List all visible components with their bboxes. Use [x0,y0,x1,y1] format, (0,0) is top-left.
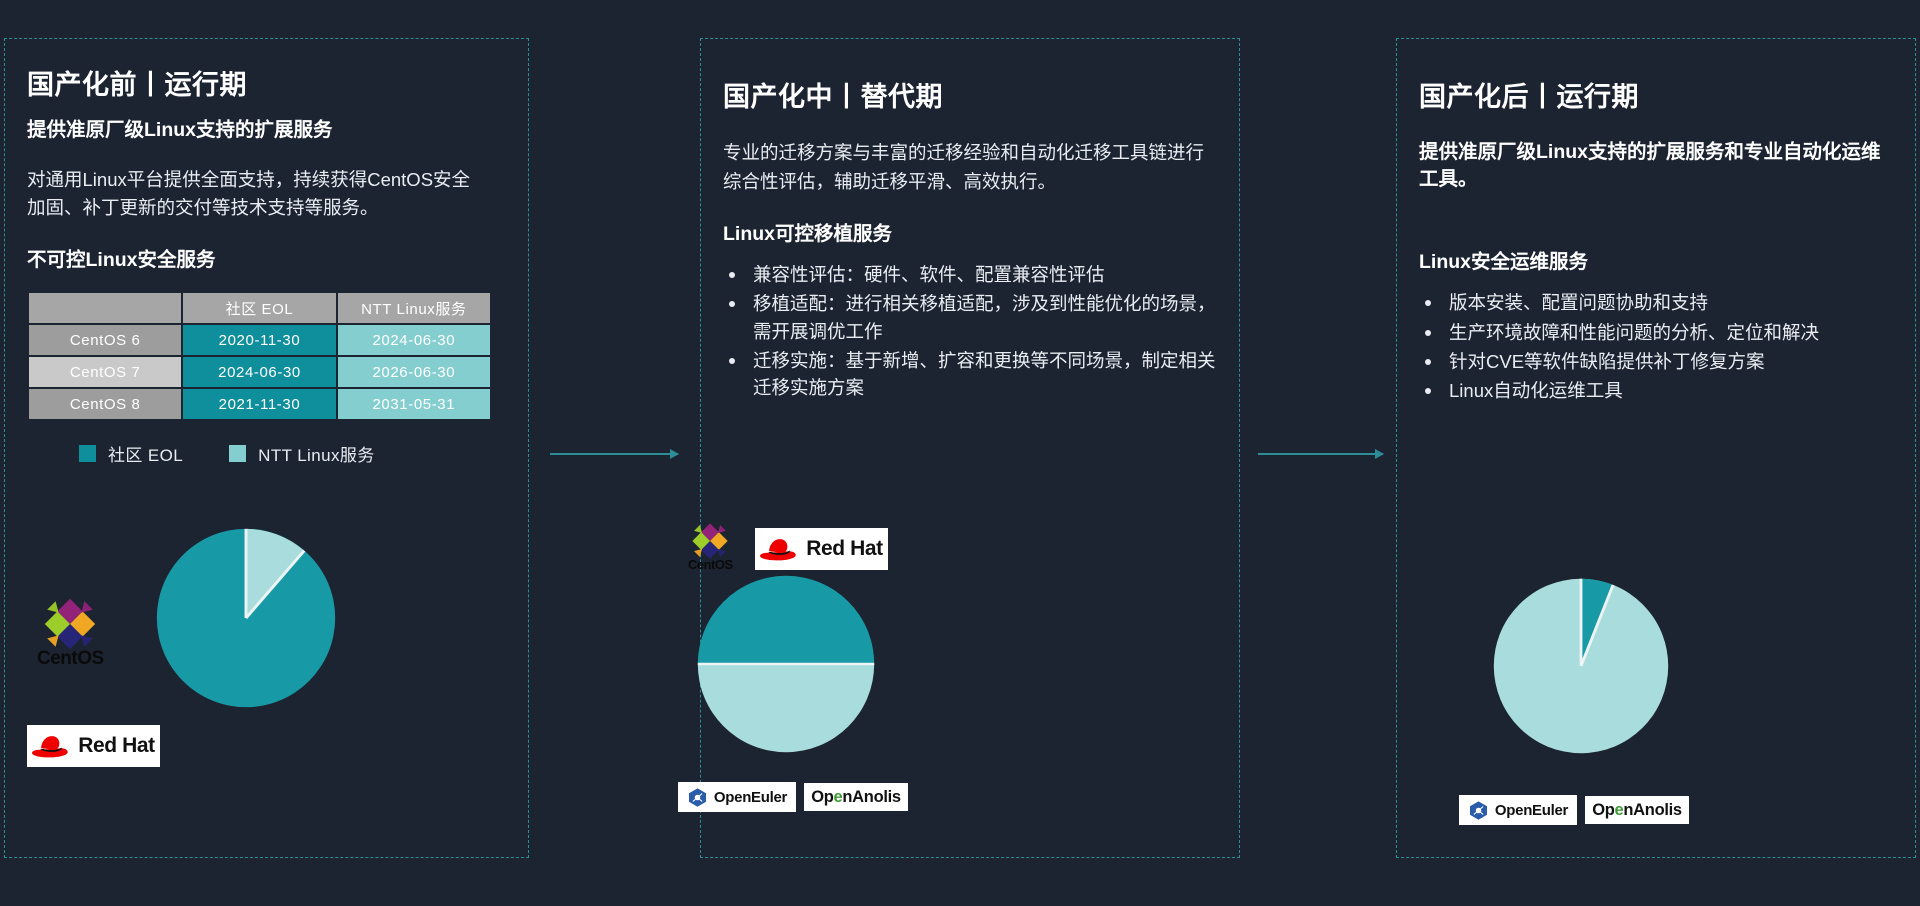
redhat-logo: Red Hat [755,528,888,570]
openanolis-logo-label: OpenAnolis [1592,801,1682,820]
list-item: 版本安装、配置问题协助和支持 [1419,289,1897,316]
table-cell-eol: 2020-11-30 [183,325,335,355]
slide-canvas: 国产化前丨运行期 提供准原厂级Linux支持的扩展服务 对通用Linux平台提供… [0,0,1920,906]
centos-logo: CentOS [688,520,733,572]
table-cell-os: CentOS 6 [29,325,181,355]
table-cell-ntt: 2026-06-30 [338,357,490,387]
table-header-row: 社区 EOL NTT Linux服务 [29,293,490,323]
openanolis-logo: OpenAnolis [804,783,908,811]
table-cell-eol: 2021-11-30 [183,389,335,419]
panel-after: 国产化后丨运行期 提供准原厂级Linux支持的扩展服务和专业自动化运维工具。 L… [1396,38,1916,858]
panel-before-body: 对通用Linux平台提供全面支持，持续获得CentOS安全加固、补丁更新的交付等… [27,166,485,222]
panel-before: 国产化前丨运行期 提供准原厂级Linux支持的扩展服务 对通用Linux平台提供… [4,38,529,858]
table-header-blank [29,293,181,323]
panel-after-title: 国产化后丨运行期 [1419,81,1891,113]
panel-before-subtitle: 提供准原厂级Linux支持的扩展服务 [27,117,504,143]
panel-during-section-heading: Linux可控移植服务 [723,222,1215,247]
list-item: 迁移实施：基于新增、扩容和更换等不同场景，制定相关迁移实施方案 [723,347,1221,402]
panel-during: 国产化中丨替代期 专业的迁移方案与丰富的迁移经验和自动化迁移工具链进行综合性评估… [700,38,1240,858]
list-item: 生产环境故障和性能问题的分析、定位和解决 [1419,319,1897,346]
legend-label: NTT Linux服务 [258,441,375,466]
table-cell-os: CentOS 7 [29,357,181,387]
list-item: 针对CVE等软件缺陷提供补丁修复方案 [1419,348,1897,375]
table-row: CentOS 7 2024-06-30 2026-06-30 [29,357,490,387]
centos-logo-label: CentOS [37,648,104,670]
panel-during-bullets: 兼容性评估：硬件、软件、配置兼容性评估 移植适配：进行相关移植适配，涉及到性能优… [723,261,1221,402]
openeuler-mark-icon [1468,800,1489,821]
redhat-fedora-icon [760,536,798,562]
pie-chart-before [155,527,337,714]
centos-mark-icon [40,594,100,654]
table-row: CentOS 6 2020-11-30 2024-06-30 [29,325,490,355]
openeuler-mark-icon [687,787,708,808]
openeuler-logo-label: OpenEuler [1495,802,1568,819]
arrow-during-to-after [1258,453,1383,455]
centos-logo: CentOS [37,594,104,670]
table-cell-ntt: 2024-06-30 [338,325,490,355]
table-header-ntt: NTT Linux服务 [338,293,490,323]
pie-after-svg [1492,577,1670,755]
legend-swatch-icon [229,445,246,462]
openeuler-logo-label: OpenEuler [714,789,787,806]
legend-label: 社区 EOL [108,441,183,466]
panel-during-body: 专业的迁移方案与丰富的迁移经验和自动化迁移工具链进行综合性评估，辅助迁移平滑、高… [723,139,1215,195]
table-cell-eol: 2024-06-30 [183,357,335,387]
table-row: CentOS 8 2021-11-30 2031-05-31 [29,389,490,419]
list-item: 兼容性评估：硬件、软件、配置兼容性评估 [723,261,1221,288]
panel-before-section-heading: 不可控Linux安全服务 [27,248,504,273]
table-cell-ntt: 2031-05-31 [338,389,490,419]
pie-chart-after [1492,577,1670,760]
arrow-before-to-during [550,453,678,455]
openeuler-logo: OpenEuler [1459,795,1577,825]
eol-table: 社区 EOL NTT Linux服务 CentOS 6 2020-11-30 2… [27,291,492,421]
list-item: Linux自动化运维工具 [1419,377,1897,404]
pie-chart-during [696,574,876,759]
panel-after-bullets: 版本安装、配置问题协助和支持 生产环境故障和性能问题的分析、定位和解决 针对CV… [1419,289,1897,405]
panel-after-subtitle: 提供准原厂级Linux支持的扩展服务和专业自动化运维工具。 [1419,139,1881,192]
panel-after-section-heading: Linux安全运维服务 [1419,250,1891,275]
openanolis-logo-label: OpenAnolis [811,788,901,807]
centos-logo-label: CentOS [688,557,733,572]
pie-during-svg [696,574,876,754]
legend-swatch-icon [79,445,96,462]
legend-item-ntt: NTT Linux服务 [229,441,375,466]
chart-legend: 社区 EOL NTT Linux服务 [27,441,504,466]
redhat-fedora-icon [32,733,70,759]
legend-item-eol: 社区 EOL [79,441,183,466]
table-cell-os: CentOS 8 [29,389,181,419]
table-header-eol: 社区 EOL [183,293,335,323]
centos-mark-icon [689,520,731,562]
panel-during-title: 国产化中丨替代期 [723,81,1215,113]
redhat-logo-label: Red Hat [78,734,155,758]
pie-before-svg [155,527,337,709]
panel-before-title: 国产化前丨运行期 [27,69,504,101]
openeuler-logo: OpenEuler [678,782,796,812]
openanolis-logo: OpenAnolis [1585,796,1689,824]
list-item: 移植适配：进行相关移植适配，涉及到性能优化的场景，需开展调优工作 [723,290,1221,345]
redhat-logo: Red Hat [27,725,160,767]
redhat-logo-label: Red Hat [806,537,883,561]
